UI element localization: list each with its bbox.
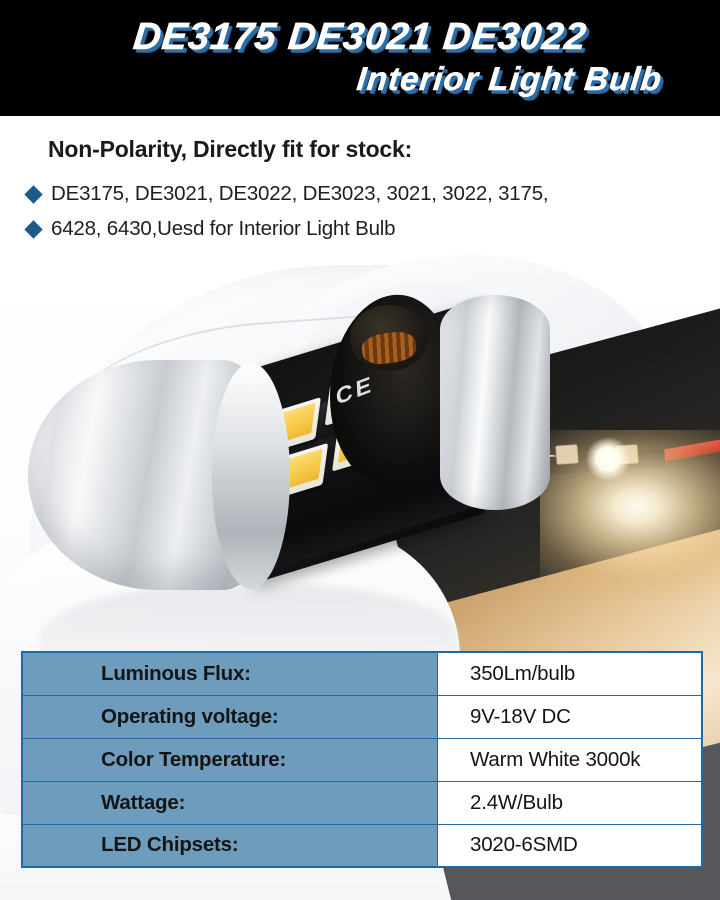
- spec-label: Luminous Flux:: [22, 652, 438, 695]
- product-listing-page: DE3175 DE3021 DE3022 Interior Light Bulb…: [0, 0, 720, 900]
- spec-value: 9V-18V DC: [438, 695, 703, 738]
- spec-label: Wattage:: [22, 781, 438, 824]
- product-title-line-2: Interior Light Bulb: [0, 60, 664, 98]
- bulb-cap-face: [212, 363, 290, 589]
- spec-value: 350Lm/bulb: [438, 652, 703, 695]
- spec-label: Operating voltage:: [22, 695, 438, 738]
- table-row: Luminous Flux: 350Lm/bulb: [22, 652, 702, 695]
- compatibility-item-2: 6428, 6430,Uesd for Interior Light Bulb: [27, 217, 395, 241]
- compatibility-item-1-text: DE3175, DE3021, DE3022, DE3023, 3021, 30…: [51, 182, 548, 206]
- table-row: Color Temperature: Warm White 3000k: [22, 738, 702, 781]
- compatibility-heading: Non-Polarity, Directly fit for stock:: [48, 136, 412, 163]
- spec-label: Color Temperature:: [22, 738, 438, 781]
- diamond-bullet-icon: [24, 185, 42, 203]
- table-row: Operating voltage: 9V-18V DC: [22, 695, 702, 738]
- header-banner: DE3175 DE3021 DE3022 Interior Light Bulb: [0, 0, 720, 116]
- bulb-chrome-barrel: [440, 295, 550, 510]
- compatibility-item-1: DE3175, DE3021, DE3022, DE3023, 3021, 30…: [27, 182, 548, 206]
- compatibility-item-2-text: 6428, 6430,Uesd for Interior Light Bulb: [51, 217, 395, 241]
- product-title-line-1: DE3175 DE3021 DE3022: [0, 16, 720, 59]
- spec-value: 3020-6SMD: [438, 824, 703, 867]
- led-bulb-product: 3175 CE: [0, 255, 720, 715]
- spec-label: LED Chipsets:: [22, 824, 438, 867]
- spec-value: Warm White 3000k: [438, 738, 703, 781]
- table-row: Wattage: 2.4W/Bulb: [22, 781, 702, 824]
- table-row: LED Chipsets: 3020-6SMD: [22, 824, 702, 867]
- spec-value: 2.4W/Bulb: [438, 781, 703, 824]
- specifications-table: Luminous Flux: 350Lm/bulb Operating volt…: [21, 651, 703, 868]
- diamond-bullet-icon: [24, 220, 42, 238]
